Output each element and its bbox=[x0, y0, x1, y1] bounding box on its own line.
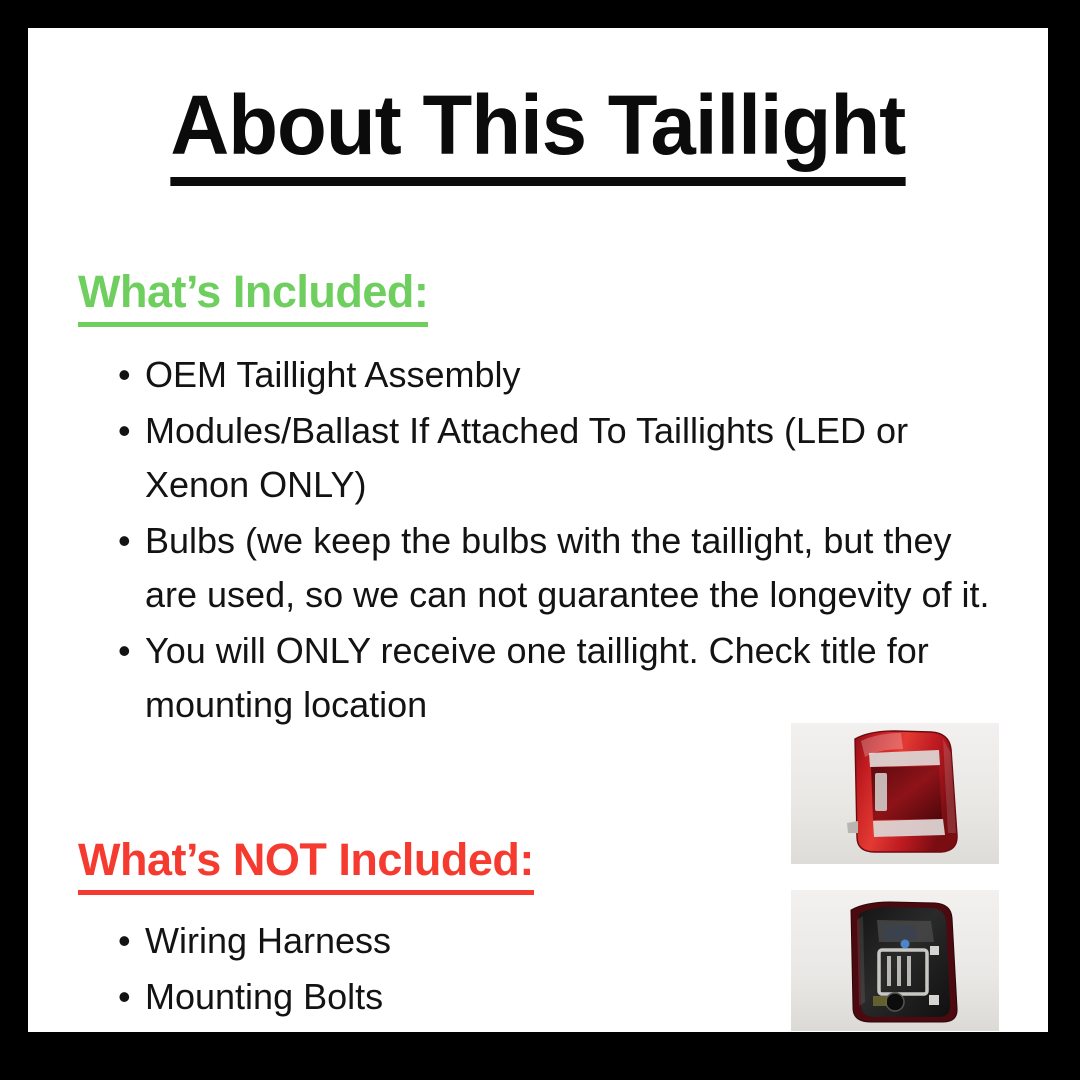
page-title: About This Taillight bbox=[171, 83, 906, 186]
bullet-dot-icon: • bbox=[118, 914, 131, 968]
included-heading-text: What’s Included: bbox=[78, 268, 428, 327]
included-bullet-list: • OEM Taillight Assembly • Modules/Balla… bbox=[118, 348, 998, 734]
taillight-housing-back-photo bbox=[791, 890, 999, 1031]
black-frame: About This Taillight What’s Included: • … bbox=[0, 0, 1080, 1080]
bullet-dot-icon: • bbox=[118, 970, 131, 1024]
list-item: • Bulbs (we keep the bulbs with the tail… bbox=[118, 514, 998, 622]
bullet-dot-icon: • bbox=[118, 348, 131, 402]
list-item-label: OEM Taillight Assembly bbox=[145, 354, 520, 395]
not-included-bullet-list: • Wiring Harness • Mounting Bolts bbox=[118, 914, 738, 1026]
list-item-label: Bulbs (we keep the bulbs with the tailli… bbox=[145, 520, 990, 615]
page-title-wrapper: About This Taillight bbox=[28, 83, 1048, 186]
taillight-lens-front-photo bbox=[791, 723, 999, 864]
included-section-heading: What’s Included: bbox=[78, 268, 428, 327]
list-item-label: You will ONLY receive one taillight. Che… bbox=[145, 630, 929, 725]
list-item: • Modules/Ballast If Attached To Taillig… bbox=[118, 404, 998, 512]
list-item-label: Modules/Ballast If Attached To Taillight… bbox=[145, 410, 908, 505]
bullet-dot-icon: • bbox=[118, 514, 131, 568]
list-item: • OEM Taillight Assembly bbox=[118, 348, 998, 402]
list-item-label: Wiring Harness bbox=[145, 920, 391, 961]
content-card: About This Taillight What’s Included: • … bbox=[28, 28, 1048, 1032]
list-item-label: Mounting Bolts bbox=[145, 976, 383, 1017]
bullet-dot-icon: • bbox=[118, 624, 131, 678]
not-included-heading-text: What’s NOT Included: bbox=[78, 836, 534, 895]
list-item: • Wiring Harness bbox=[118, 914, 738, 968]
list-item: • You will ONLY receive one taillight. C… bbox=[118, 624, 998, 732]
not-included-section-heading: What’s NOT Included: bbox=[78, 836, 534, 895]
bullet-dot-icon: • bbox=[118, 404, 131, 458]
list-item: • Mounting Bolts bbox=[118, 970, 738, 1024]
